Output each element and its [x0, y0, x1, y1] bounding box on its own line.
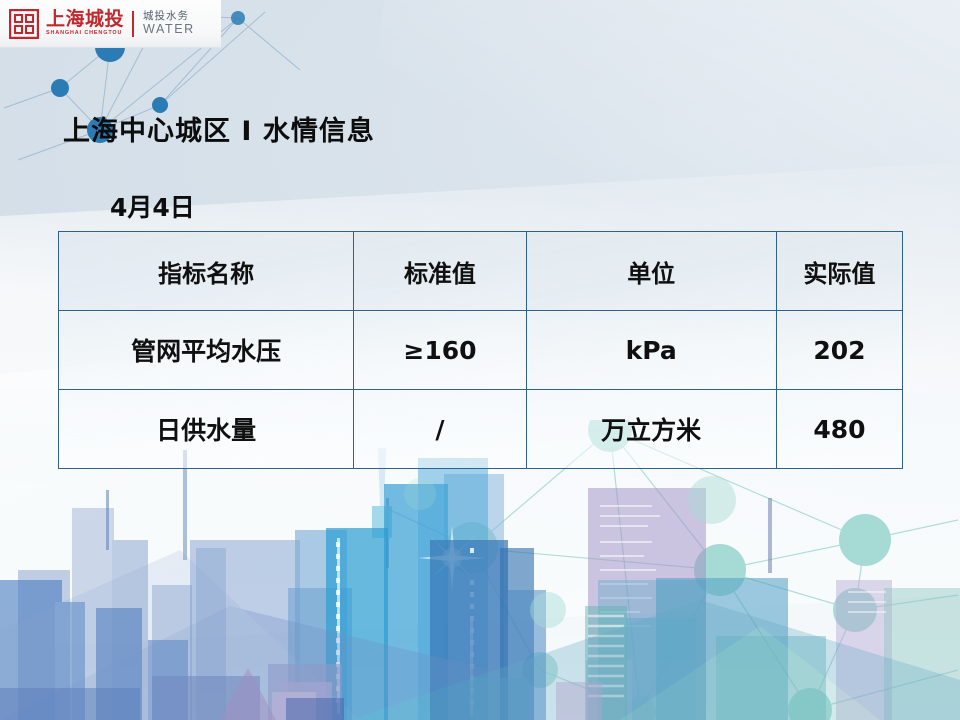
brand-division-en: WATER [143, 23, 195, 36]
slide-canvas: 上海城投 SHANGHAI CHENGTOU 城投水务 WATER 上海中心城区… [0, 0, 960, 720]
column-header-indicator-name: 指标名称 [59, 232, 354, 311]
header-band: 上海城投 SHANGHAI CHENGTOU 城投水务 WATER [0, 0, 221, 48]
column-header-actual-value: 实际值 [776, 232, 902, 311]
table-row: 日供水量 / 万立方米 480 [59, 390, 903, 469]
brand-logo: 上海城投 SHANGHAI CHENGTOU 城投水务 WATER [0, 0, 221, 47]
cell-actual-value: 480 [776, 390, 902, 469]
column-header-unit: 单位 [526, 232, 776, 311]
page-title: 上海中心城区 Ⅰ 水情信息 [63, 109, 375, 148]
cityscape-graphic [0, 430, 960, 720]
cell-unit: 万立方米 [526, 390, 776, 469]
cell-actual-value: 202 [776, 311, 902, 390]
table-row: 管网平均水压 ≥160 kPa 202 [59, 311, 903, 390]
column-header-standard-value: 标准值 [354, 232, 526, 311]
cell-indicator-name: 管网平均水压 [59, 311, 354, 390]
table-header-row: 指标名称 标准值 单位 实际值 [59, 232, 903, 311]
water-info-table: 指标名称 标准值 单位 实际值 管网平均水压 ≥160 kPa 202 日供水量… [58, 231, 903, 469]
cell-indicator-name: 日供水量 [59, 390, 354, 469]
brand-name-en: SHANGHAI CHENGTOU [46, 31, 124, 36]
report-date: 4月4日 [110, 188, 195, 224]
brand-name-block: 上海城投 SHANGHAI CHENGTOU [46, 10, 124, 36]
cell-unit: kPa [526, 311, 776, 390]
brand-name-cn: 上海城投 [46, 10, 124, 29]
brand-division-block: 城投水务 WATER [143, 10, 195, 36]
brand-division-cn: 城投水务 [143, 10, 195, 22]
cell-standard-value: / [354, 390, 526, 469]
logo-divider [132, 11, 134, 37]
cell-standard-value: ≥160 [354, 311, 526, 390]
shanghai-chengtou-square-logo-icon [9, 9, 39, 39]
